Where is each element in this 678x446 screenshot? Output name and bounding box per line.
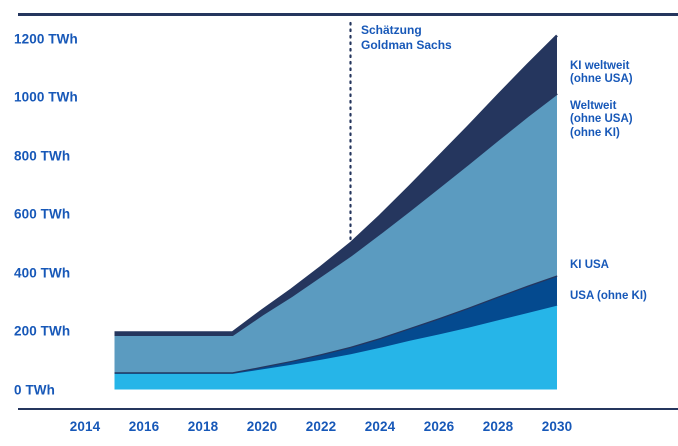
x-axis-tick-label: 2016: [129, 419, 159, 434]
series-label-weltweit-ohne-usa-ohne-ki: Weltweit (ohne USA) (ohne KI): [570, 100, 633, 140]
series-label-ki-usa: KI USA: [570, 259, 609, 272]
x-axis-tick-label: 2030: [542, 419, 572, 434]
series-label-ki-weltweit-ohne-usa: KI weltweit (ohne USA): [570, 60, 633, 87]
y-axis-tick-label: 400 TWh: [14, 265, 70, 280]
y-axis-tick-label: 800 TWh: [14, 148, 70, 163]
x-axis-tick-label: 2020: [247, 419, 277, 434]
x-axis-tick-label: 2014: [70, 419, 100, 434]
y-axis-tick-label: 1000 TWh: [14, 90, 78, 105]
series-label-usa-ohne-ki: USA (ohne KI): [570, 290, 647, 303]
x-axis-tick-label: 2022: [306, 419, 336, 434]
x-axis-tick-label: 2018: [188, 419, 218, 434]
y-axis-tick-label: 0 TWh: [14, 382, 55, 397]
x-axis-tick-label: 2024: [365, 419, 395, 434]
x-axis-tick-label: 2026: [424, 419, 454, 434]
x-axis-tick-label: 2028: [483, 419, 513, 434]
y-axis-tick-label: 600 TWh: [14, 207, 70, 222]
forecast-annotation-label: Schätzung Goldman Sachs: [361, 23, 452, 52]
y-axis-tick-label: 1200 TWh: [14, 31, 78, 46]
y-axis-tick-label: 200 TWh: [14, 324, 70, 339]
chart-root: 0 TWh200 TWh400 TWh600 TWh800 TWh1000 TW…: [0, 0, 678, 446]
